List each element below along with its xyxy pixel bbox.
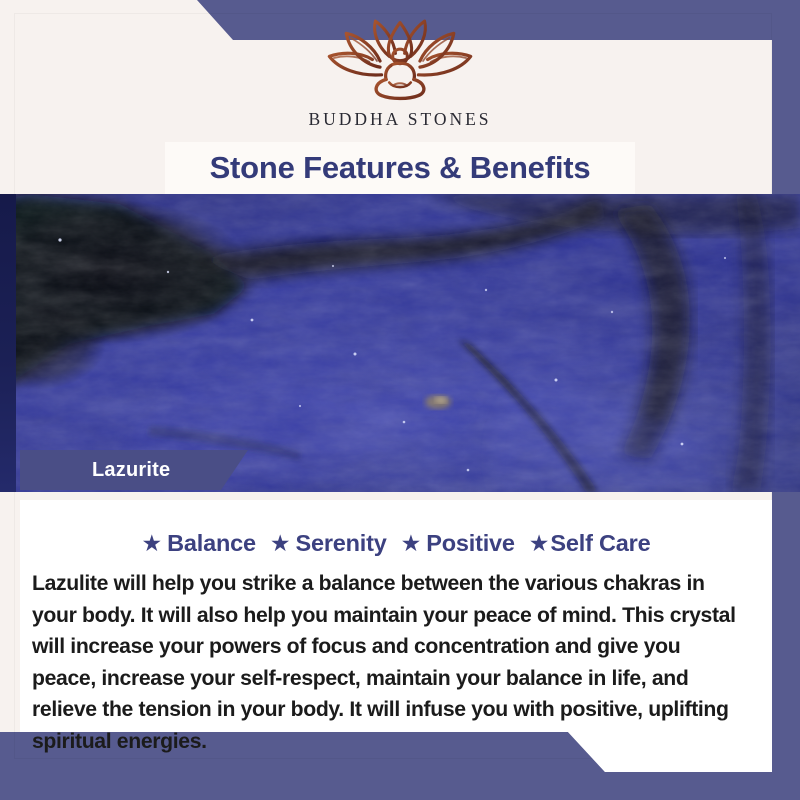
feature-item-self-care: ★ Self Care (529, 530, 651, 557)
page-title: Stone Features & Benefits (210, 150, 591, 186)
star-icon: ★ (401, 532, 422, 555)
poster-root: BUDDHA STONES Stone Features & Benefits (0, 0, 800, 800)
feature-item-serenity: ★ Serenity (270, 530, 387, 557)
stone-name-bar: Lazurite (20, 450, 248, 490)
stone-photo-graphic (0, 194, 800, 492)
feature-keyword-row: ★ Balance ★ Serenity ★ Positive ★ Self C… (20, 530, 772, 557)
page-title-band: Stone Features & Benefits (165, 142, 635, 194)
stone-name: Lazurite (92, 459, 170, 482)
photo-left-edge-shadow (0, 194, 16, 492)
feature-label: Balance (167, 530, 256, 557)
feature-item-balance: ★ Balance (142, 530, 256, 557)
feature-item-positive: ★ Positive (401, 530, 515, 557)
stone-photo (0, 194, 800, 492)
star-icon: ★ (270, 532, 291, 555)
feature-label: Self Care (550, 530, 650, 557)
star-icon: ★ (142, 532, 163, 555)
feature-label: Serenity (295, 530, 386, 557)
stone-description: Lazulite will help you strike a balance … (32, 568, 742, 757)
brand-name: BUDDHA STONES (0, 109, 800, 130)
lotus-meditation-logo-icon (315, 18, 485, 104)
feature-label: Positive (426, 530, 515, 557)
brand-logo-block: BUDDHA STONES (0, 18, 800, 130)
star-icon: ★ (529, 532, 550, 555)
